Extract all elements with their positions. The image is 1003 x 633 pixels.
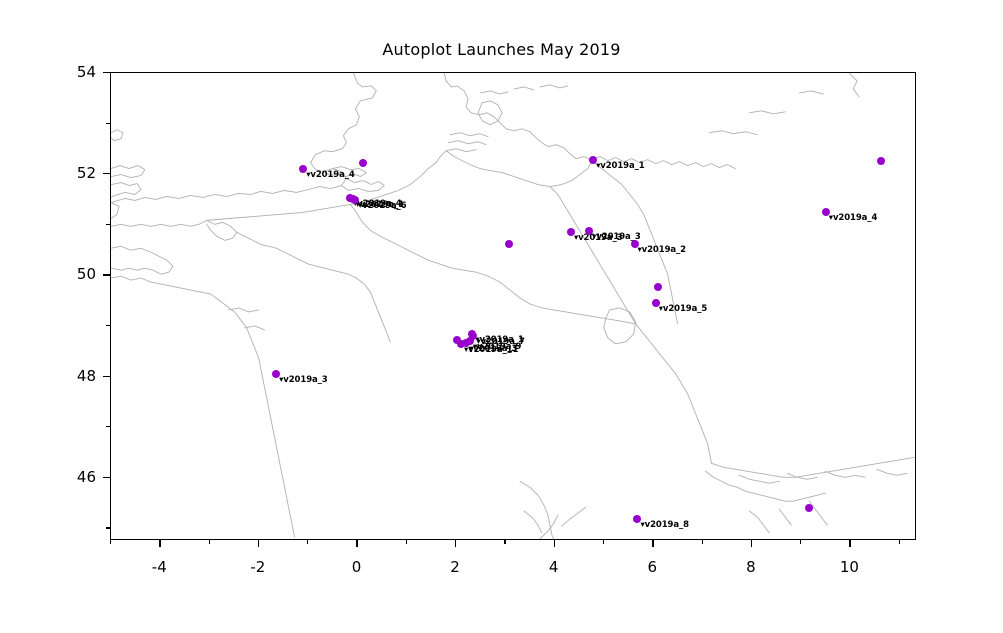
y-axis-tick-minor [106,527,110,528]
x-axis-tick-major [455,540,456,547]
y-axis-tick-label: 48 [77,367,96,385]
y-axis-tick-label: 46 [77,468,96,486]
x-axis-tick-label: 2 [450,558,460,576]
x-axis-tick-label: 0 [352,558,362,576]
coastline-paths [111,73,859,218]
data-point-marker[interactable] [877,157,885,165]
y-axis-tick-label: 50 [77,265,96,283]
data-point-label: ▾v2019a_2 [638,246,686,255]
data-point-label: ▾v2019a_6 [358,202,406,211]
x-axis-tick-label: 4 [549,558,559,576]
france-coastline-paths [111,220,586,539]
x-axis-tick-label: 10 [840,558,859,576]
y-axis-tick-minor [106,123,110,124]
map-coastlines-svg [111,73,915,539]
data-point-label: ▾v2019a_4 [306,171,354,180]
y-axis-tick-major [103,477,110,478]
x-axis-tick-label: -4 [152,558,167,576]
data-point-marker[interactable] [505,240,513,248]
x-axis-tick-major [652,540,653,547]
x-axis-tick-label: 6 [647,558,657,576]
data-point-label: ▾v2019a_5 [659,305,707,314]
x-axis-tick-minor [307,540,308,544]
x-axis-tick-label: 8 [746,558,756,576]
y-axis-tick-major [103,72,110,73]
x-axis-tick-minor [504,540,505,544]
x-axis-tick-minor [209,540,210,544]
x-axis-tick-minor [800,540,801,544]
data-point-marker[interactable] [654,283,662,291]
map-plot-area[interactable]: ▾v2019a_4▾v2019a_4▾v2019a_1▾v2019a_6▾v20… [110,72,916,540]
data-point-label: ▾v2019a_1 [596,162,644,171]
x-axis-tick-major [159,540,160,547]
x-axis-tick-minor [899,540,900,544]
x-axis-tick-minor [406,540,407,544]
x-axis-tick-major [258,540,259,547]
x-axis-tick-major [849,540,850,547]
y-axis-tick-minor [106,426,110,427]
y-axis-tick-major [103,376,110,377]
data-point-label: ▾v2019a_3 [279,376,327,385]
x-axis-tick-minor [603,540,604,544]
x-axis-tick-major [554,540,555,547]
x-axis-tick-label: -2 [250,558,265,576]
data-point-marker[interactable] [359,159,367,167]
data-point-label: ▾v2019a_8 [640,521,688,530]
y-axis-tick-minor [106,224,110,225]
data-point-label: ▾v2019a_4 [829,214,877,223]
y-axis-tick-major [103,173,110,174]
country-border-paths [207,151,915,533]
data-point-label: ▾v2019a_11 [464,346,518,355]
y-axis-tick-minor [106,325,110,326]
x-axis-tick-major [751,540,752,547]
y-axis-tick-label: 52 [77,164,96,182]
chart-page: Autoplot Launches May 2019 [0,0,1003,633]
y-axis-tick-major [103,274,110,275]
page-title: Autoplot Launches May 2019 [0,40,1003,59]
y-axis-tick-label: 54 [77,63,96,81]
x-axis-tick-minor [702,540,703,544]
x-axis-tick-minor [110,540,111,544]
x-axis-tick-major [356,540,357,547]
data-point-marker[interactable] [805,504,813,512]
